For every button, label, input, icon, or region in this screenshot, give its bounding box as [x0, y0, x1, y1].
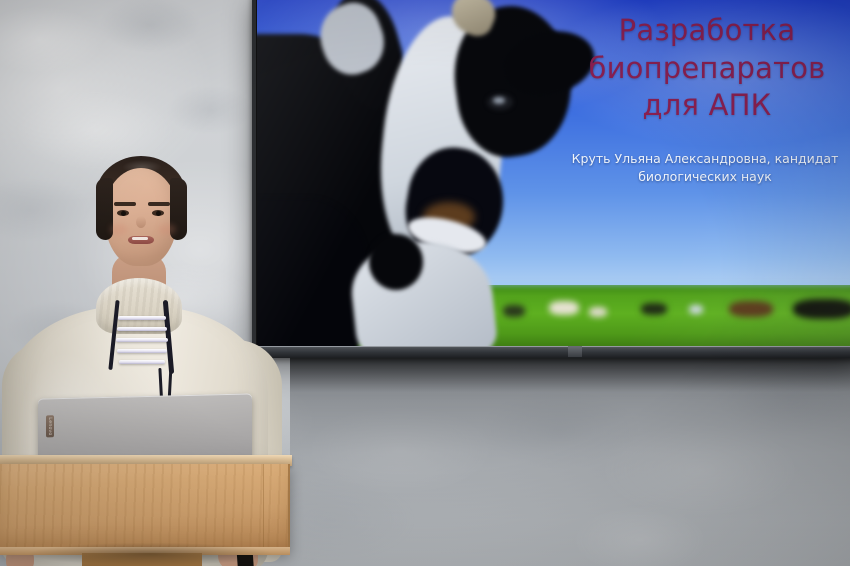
frame-vignette	[0, 0, 850, 566]
video-frame: Разработка биопрепаратов для АПК Круть У…	[0, 0, 850, 566]
